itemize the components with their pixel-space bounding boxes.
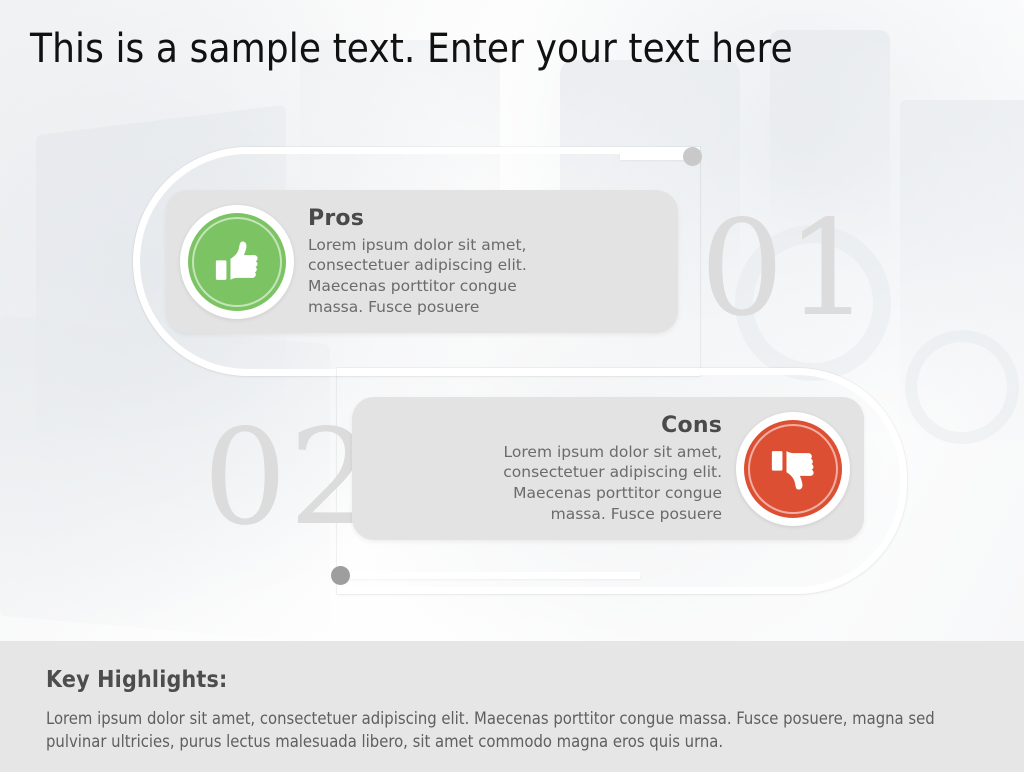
key-highlights-section: Key Highlights: Lorem ipsum dolor sit am… <box>0 641 1024 772</box>
page-title: This is a sample text. Enter your text h… <box>30 26 793 72</box>
background-ring <box>905 330 1019 444</box>
thumbs-down-icon <box>767 443 819 495</box>
key-highlights-body: Lorem ipsum dolor sit amet, consectetuer… <box>46 707 978 754</box>
slide-canvas: This is a sample text. Enter your text h… <box>0 0 1024 772</box>
step-number-02: 02 <box>203 412 375 544</box>
thumbs-up-icon <box>211 236 263 288</box>
pros-heading: Pros <box>308 206 654 231</box>
connector-node-bottom <box>331 566 350 585</box>
cons-heading: Cons <box>376 413 722 438</box>
connector-node-top <box>683 147 702 166</box>
connector-line-bottom <box>340 572 640 579</box>
pros-body-text: Lorem ipsum dolor sit amet, consectetuer… <box>308 235 654 317</box>
pros-text-block: Pros Lorem ipsum dolor sit amet, consect… <box>294 206 662 317</box>
step-number-01: 01 <box>700 203 872 335</box>
pros-icon-medallion[interactable] <box>180 205 294 319</box>
key-highlights-title: Key Highlights: <box>46 667 978 693</box>
cons-text-block: Cons Lorem ipsum dolor sit amet, consect… <box>368 413 736 524</box>
pros-card[interactable]: Pros Lorem ipsum dolor sit amet, consect… <box>166 190 678 333</box>
cons-card[interactable]: Cons Lorem ipsum dolor sit amet, consect… <box>352 397 864 540</box>
cons-icon-medallion[interactable] <box>736 412 850 526</box>
cons-body-text: Lorem ipsum dolor sit amet, consectetuer… <box>376 442 722 524</box>
